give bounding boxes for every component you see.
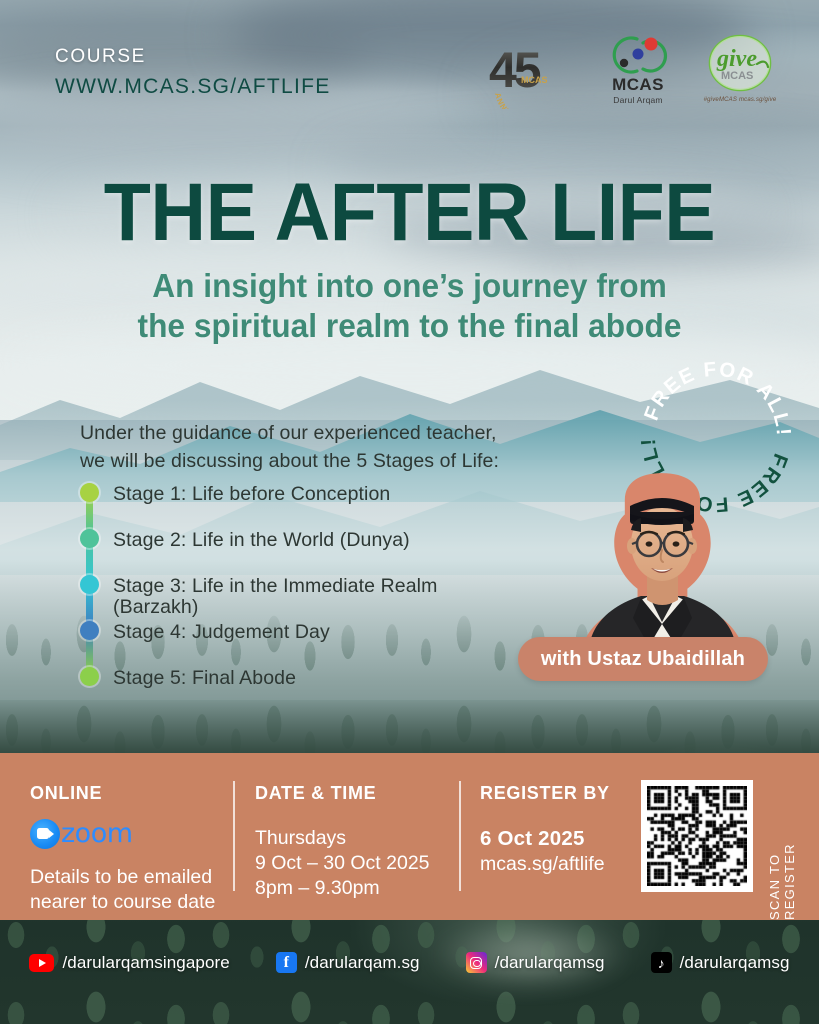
svg-text:MCAS: MCAS — [721, 70, 753, 82]
stage-item: Stage 5: Final Abode — [80, 667, 510, 713]
mcas-logo-subtitle: Darul Arqam — [613, 95, 662, 105]
zoom-wordmark: zoom — [61, 818, 133, 849]
stage-dot-icon — [80, 575, 99, 594]
stage-label: Stage 4: Judgement Day — [113, 621, 330, 643]
datetime-time: 8pm – 9.30pm — [255, 876, 455, 901]
stage-dot-icon — [80, 667, 99, 686]
scan-to-register-label: SCAN TO REGISTER — [767, 787, 797, 920]
facebook-icon: f — [276, 952, 297, 973]
social-item-instagram[interactable]: /darularqamsg — [466, 952, 605, 973]
stage-dot-icon — [80, 621, 99, 640]
poster-header: COURSE WWW.MCAS.SG/AFTLIFE — [55, 43, 331, 102]
subtitle-line-2: the spiritual realm to the final abode — [16, 306, 802, 346]
instagram-icon — [466, 952, 487, 973]
stage-item: Stage 4: Judgement Day — [80, 621, 510, 667]
online-note-line-2: nearer to course date — [30, 890, 245, 915]
social-footer: /darularqamsingapore f /darularqam.sg /d… — [0, 952, 819, 973]
course-poster: COURSE WWW.MCAS.SG/AFTLIFE 45 MCAS ANNIV… — [0, 0, 819, 1024]
free-badge-top-text: FREE FOR ALL! — [640, 358, 795, 438]
title-block: THE AFTER LIFE An insight into one’s jou… — [0, 175, 819, 346]
social-handle: /darularqamsingapore — [62, 953, 229, 973]
stage-label: Stage 1: Life before Conception — [113, 483, 390, 505]
datetime-column: DATE & TIME Thursdays 9 Oct – 30 Oct 202… — [255, 783, 455, 901]
anniversary-45-logo: 45 MCAS ANNIVERSARY — [485, 35, 577, 109]
social-item-tiktok[interactable]: ♪ /darularqamsg — [651, 952, 790, 973]
social-handle: /darularqamsg — [495, 953, 605, 973]
info-bar: ONLINE zoom Details to be emailed nearer… — [0, 753, 819, 920]
give-mcas-logo: give MCAS #giveMCAS mcas.sg/give — [699, 34, 781, 110]
datetime-heading: DATE & TIME — [255, 783, 455, 804]
stage-item: Stage 2: Life in the World (Dunya) — [80, 529, 510, 575]
online-note-line-1: Details to be emailed — [30, 865, 245, 890]
stage-dot-icon — [80, 483, 99, 502]
mcas-logo-title: MCAS — [612, 76, 664, 93]
register-link[interactable]: mcas.sg/aftlife — [480, 852, 640, 877]
column-divider — [233, 781, 235, 891]
stage-label: Stage 3: Life in the Immediate Realm (Ba… — [113, 575, 510, 619]
svg-text:45: 45 — [489, 42, 541, 98]
social-item-youtube[interactable]: /darularqamsingapore — [29, 953, 229, 973]
register-deadline: 6 Oct 2025 — [480, 826, 640, 852]
mcas-atom-mark — [607, 35, 669, 75]
tiktok-icon: ♪ — [651, 952, 672, 973]
speaker-name-pill: with Ustaz Ubaidillah — [518, 637, 768, 681]
social-item-facebook[interactable]: f /darularqam.sg — [276, 952, 420, 973]
online-column: ONLINE zoom Details to be emailed nearer… — [30, 783, 245, 915]
qr-code-block[interactable] — [641, 780, 753, 892]
course-kicker: COURSE — [55, 43, 331, 72]
logo-row: 45 MCAS ANNIVERSARY MCAS Darul Arqam — [485, 34, 781, 110]
subtitle-line-1: An insight into one’s journey from — [16, 266, 802, 306]
give-logo-tag: #giveMCAS mcas.sg/give — [704, 97, 777, 104]
datetime-day: Thursdays — [255, 826, 455, 851]
register-column: REGISTER BY 6 Oct 2025 mcas.sg/aftlife — [480, 783, 640, 877]
stage-item: Stage 1: Life before Conception — [80, 483, 510, 529]
svg-text:give: give — [716, 46, 757, 72]
intro-text: Under the guidance of our experienced te… — [80, 419, 499, 476]
intro-line-2: we will be discussing about the 5 Stages… — [80, 447, 499, 475]
svg-text:MCAS: MCAS — [521, 75, 548, 85]
zoom-logo: zoom — [30, 818, 245, 849]
mcas-darul-arqam-logo: MCAS Darul Arqam — [595, 35, 681, 109]
qr-code[interactable] — [641, 780, 753, 892]
datetime-range: 9 Oct – 30 Oct 2025 — [255, 851, 455, 876]
stage-item: Stage 3: Life in the Immediate Realm (Ba… — [80, 575, 510, 621]
stage-label: Stage 5: Final Abode — [113, 667, 296, 689]
stage-dot-icon — [80, 529, 99, 548]
register-heading: REGISTER BY — [480, 783, 640, 804]
social-handle: /darularqamsg — [680, 953, 790, 973]
poster-subtitle: An insight into one’s journey from the s… — [16, 266, 802, 345]
column-divider — [459, 781, 461, 891]
stages-timeline: Stage 1: Life before Conception Stage 2:… — [80, 483, 510, 713]
poster-title: THE AFTER LIFE — [25, 175, 795, 250]
qr-code-canvas[interactable] — [647, 786, 747, 886]
online-heading: ONLINE — [30, 783, 245, 804]
zoom-camera-icon — [30, 819, 60, 849]
social-handle: /darularqam.sg — [305, 953, 420, 973]
stage-label: Stage 2: Life in the World (Dunya) — [113, 529, 410, 551]
course-url: WWW.MCAS.SG/AFTLIFE — [55, 72, 331, 102]
youtube-icon — [29, 954, 54, 972]
intro-line-1: Under the guidance of our experienced te… — [80, 419, 499, 447]
